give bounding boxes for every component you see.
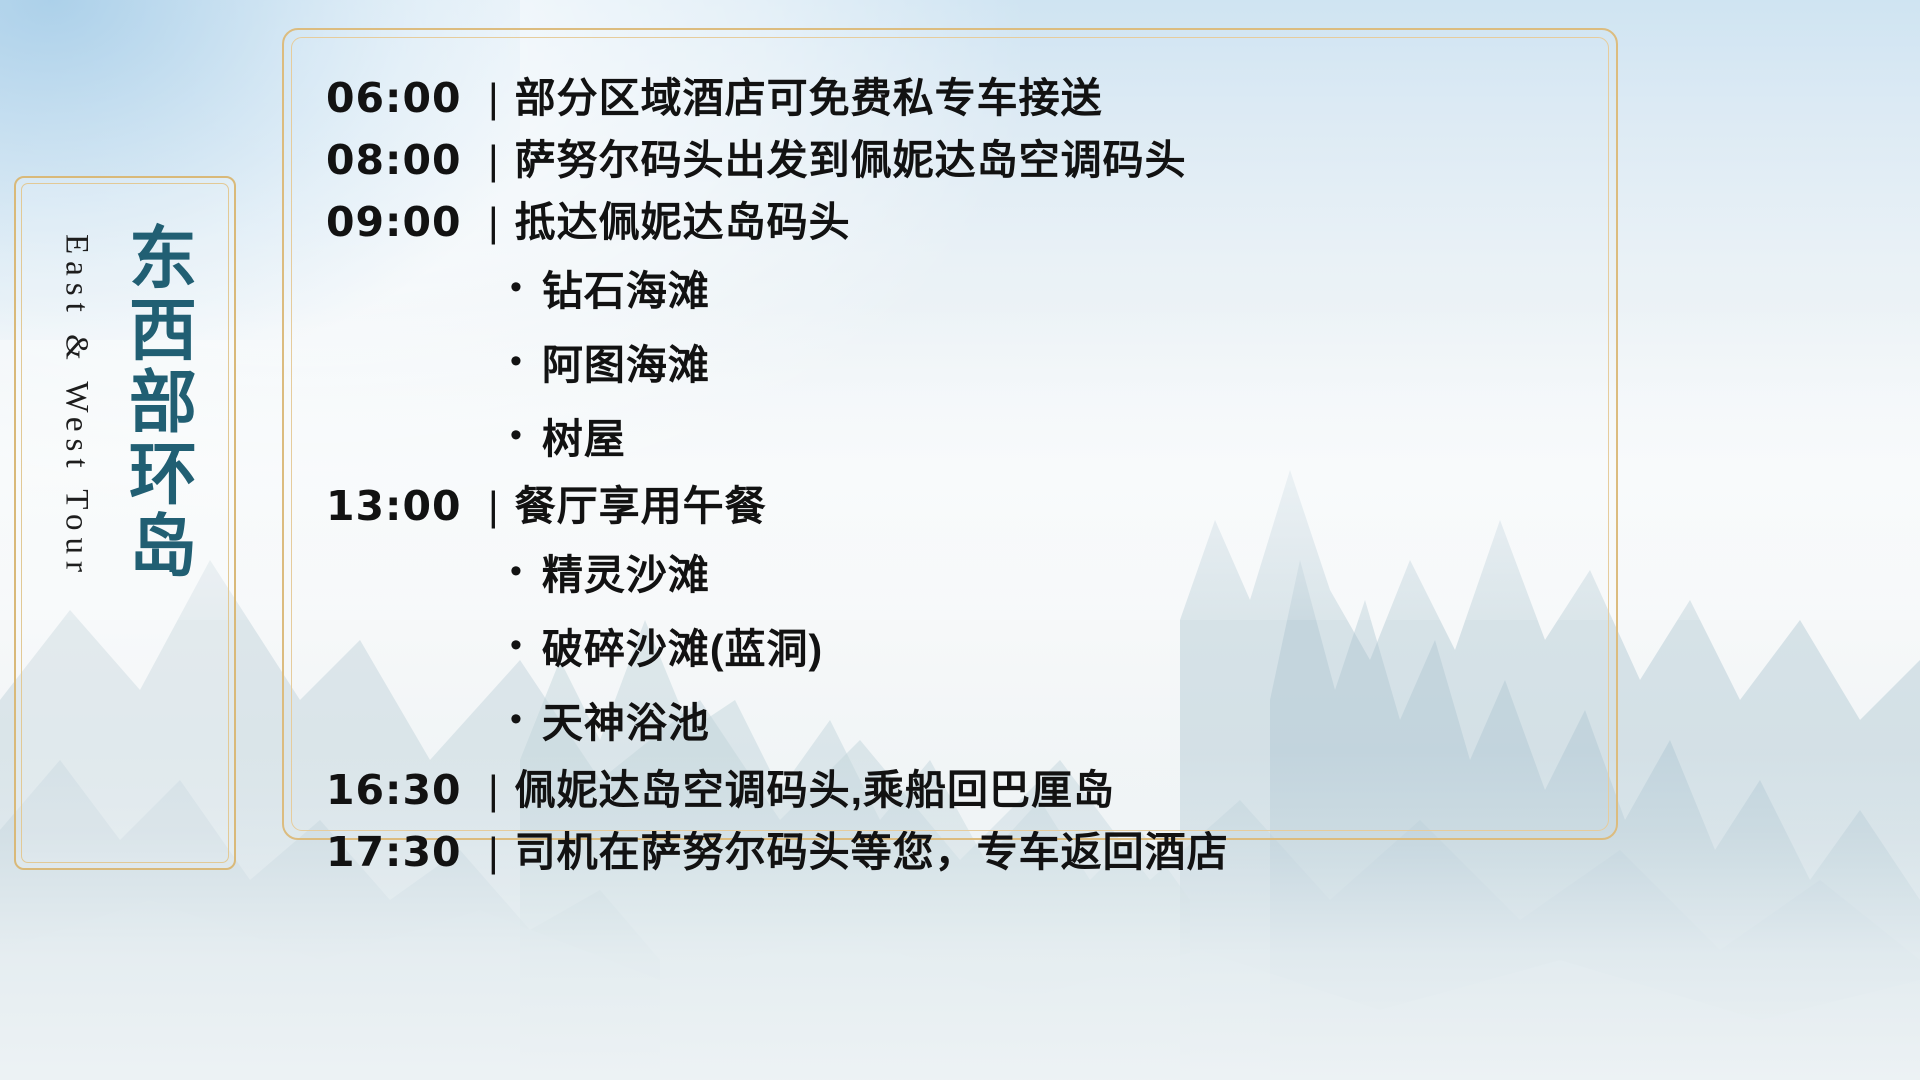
itinerary-description: 司机在萨努尔码头等您，专车返回酒店 [515,818,1229,878]
itinerary-time: 16:30 [326,766,478,814]
itinerary-bullet-label: 阿图海滩 [542,331,710,391]
itinerary-time: 08:00 [326,136,478,184]
itinerary-bullet-row: •精灵沙滩 [326,534,1590,608]
itinerary-time: 09:00 [326,198,478,246]
itinerary-description: 抵达佩妮达岛码头 [515,188,851,248]
itinerary-description: 佩妮达岛空调码头,乘船回巴厘岛 [515,756,1115,816]
itinerary-bullet-label: 精灵沙滩 [542,541,710,601]
title-english: East & West Tour [57,234,94,579]
time-separator: | [488,137,499,184]
time-separator: | [488,829,499,876]
bullet-icon: • [510,554,522,588]
itinerary-bullet-row: •破碎沙滩(蓝洞) [326,608,1590,682]
itinerary-bullet-row: •钻石海滩 [326,250,1590,324]
itinerary-time: 13:00 [326,482,478,530]
itinerary-bullet-row: •树屋 [326,398,1590,472]
itinerary-bullet-label: 破碎沙滩(蓝洞) [542,615,823,675]
itinerary-bullet-label: 树屋 [542,405,626,465]
bullet-icon: • [510,628,522,662]
time-separator: | [488,75,499,122]
itinerary-row: 16:30|佩妮达岛空调码头,乘船回巴厘岛 [326,756,1590,818]
itinerary-frame: 06:00|部分区域酒店可免费私专车接送08:00|萨努尔码头出发到佩妮达岛空调… [282,28,1618,840]
itinerary-row: 06:00|部分区域酒店可免费私专车接送 [326,64,1590,126]
itinerary-row: 17:30|司机在萨努尔码头等您，专车返回酒店 [326,818,1590,880]
itinerary-row: 08:00|萨努尔码头出发到佩妮达岛空调码头 [326,126,1590,188]
itinerary-row: 09:00|抵达佩妮达岛码头 [326,188,1590,250]
itinerary-list: 06:00|部分区域酒店可免费私专车接送08:00|萨努尔码头出发到佩妮达岛空调… [326,64,1590,820]
title-plaque: 东西部环岛 East & West Tour [14,176,236,870]
itinerary-description: 部分区域酒店可免费私专车接送 [515,64,1103,124]
itinerary-row: 13:00|餐厅享用午餐 [326,472,1590,534]
bullet-icon: • [510,270,522,304]
itinerary-bullet-label: 钻石海滩 [542,257,710,317]
time-separator: | [488,767,499,814]
bullet-icon: • [510,344,522,378]
itinerary-bullet-label: 天神浴池 [542,689,710,749]
itinerary-bullet-row: •阿图海滩 [326,324,1590,398]
time-separator: | [488,199,499,246]
itinerary-description: 萨努尔码头出发到佩妮达岛空调码头 [515,126,1187,186]
itinerary-time: 06:00 [326,74,478,122]
bullet-icon: • [510,418,522,452]
itinerary-bullet-row: •天神浴池 [326,682,1590,756]
time-separator: | [488,483,499,530]
itinerary-description: 餐厅享用午餐 [515,472,767,532]
itinerary-time: 17:30 [326,828,478,876]
poster-canvas: 东西部环岛 East & West Tour 06:00|部分区域酒店可免费私专… [0,0,1920,1080]
bullet-icon: • [510,702,522,736]
title-chinese: 东西部环岛 [120,222,192,582]
